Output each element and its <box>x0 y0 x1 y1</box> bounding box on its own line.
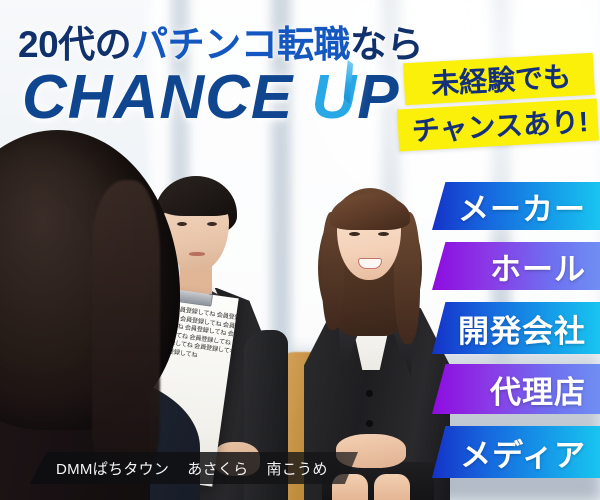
category-button-media[interactable]: メディア <box>432 426 600 478</box>
logo-letter-p: P <box>357 63 399 132</box>
caption-person-2: 南こうめ <box>266 458 327 479</box>
page-title: 20代のパチンコ転職なら <box>18 14 423 68</box>
headline-part-1: 20代の <box>18 24 131 65</box>
headline-part-2: パチンコ転職 <box>131 24 350 65</box>
caption-site-name: DMMぱちタウン <box>56 458 169 479</box>
man-mouth <box>189 252 205 256</box>
category-button-media-label: メディア <box>460 430 586 475</box>
category-button-hall-label: ホール <box>490 244 586 289</box>
headline-part-3: なら <box>350 24 423 65</box>
woman-eye-right <box>378 232 389 236</box>
category-button-agency[interactable]: 代理店 <box>432 364 600 414</box>
category-button-maker-label: メーカー <box>458 184 586 229</box>
logo-word-chance: CHANCE <box>22 63 293 132</box>
category-button-agency-label: 代理店 <box>490 367 586 412</box>
caption-bar: DMMぱちタウン あさくら 南こうめ <box>30 452 358 484</box>
woman-smiling-mouth <box>358 258 382 269</box>
category-button-development-company-label: 開発会社 <box>458 306 586 351</box>
caption-person-1: あさくら <box>187 458 248 479</box>
badge-chance-available-label: チャンスあり! <box>411 100 589 150</box>
logo-letter-u-group: U <box>311 62 357 133</box>
category-button-hall[interactable]: ホール <box>432 242 600 290</box>
woman-eye-left <box>349 232 360 236</box>
advertisement-banner[interactable]: 会員登録してね 会員登録してね 会員登録してね 会員登録してね 会員登録してね … <box>0 0 600 500</box>
man-eye-left <box>177 222 187 226</box>
chance-up-logo: CHANCE UP <box>22 62 400 133</box>
woman-jacket-button-lower <box>366 420 373 427</box>
badge-no-experience-label: 未経験でも <box>430 55 572 103</box>
man-eye-right <box>207 222 217 226</box>
category-button-maker[interactable]: メーカー <box>432 182 600 230</box>
category-button-development-company[interactable]: 開発会社 <box>432 302 600 354</box>
woman-leg-right <box>374 474 410 500</box>
woman-jacket-button-upper <box>366 390 373 397</box>
foreground-woman-hair-strand <box>92 180 160 470</box>
